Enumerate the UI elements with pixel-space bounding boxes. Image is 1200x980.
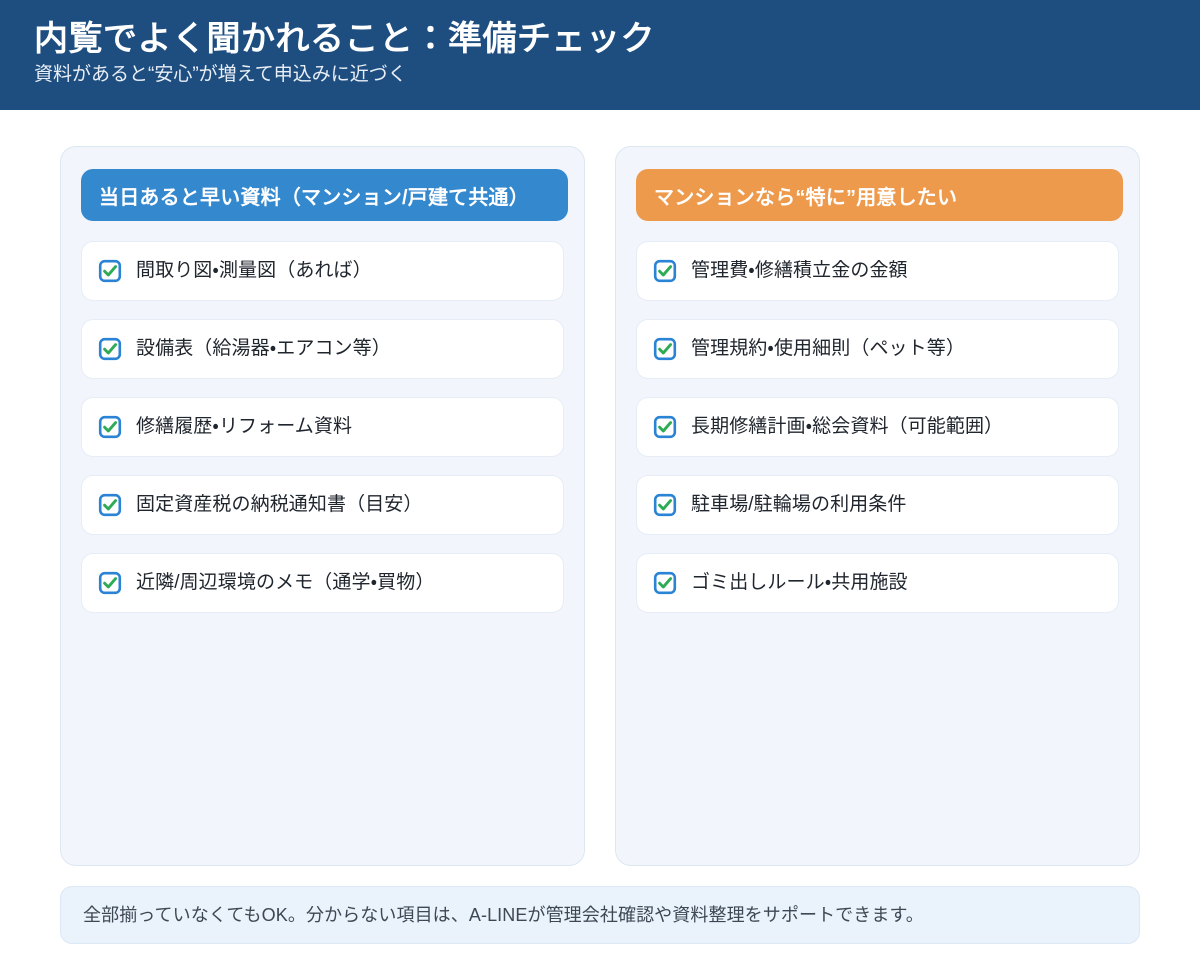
list-item[interactable]: 長期修繕計画・総会資料（可能範囲） bbox=[636, 397, 1119, 457]
list-item[interactable]: 固定資産税の納税通知書（目安） bbox=[81, 475, 564, 535]
card-heading-common: 当日あると早い資料（マンション/戸建て共通） bbox=[81, 169, 568, 221]
card-heading-mansion: マンションなら“特に”用意したい bbox=[636, 169, 1123, 221]
list-item-label: 管理規約・使用細則（ペット等） bbox=[691, 337, 965, 361]
checkbox-checked-icon[interactable] bbox=[653, 415, 677, 439]
checkbox-checked-icon[interactable] bbox=[653, 259, 677, 283]
list-item-label: 設備表（給湯器・エアコン等） bbox=[136, 337, 391, 361]
list-item-label: 近隣/周辺環境のメモ（通学・買物） bbox=[136, 571, 434, 595]
list-item-label: 修繕履歴・リフォーム資料 bbox=[136, 415, 352, 439]
checkbox-checked-icon[interactable] bbox=[98, 259, 122, 283]
footer-note-text: 全部揃っていなくてもOK。分からない項目は、A-LINEが管理会社確認や資料整理… bbox=[83, 903, 924, 927]
list-item[interactable]: 駐車場/駐輪場の利用条件 bbox=[636, 475, 1119, 535]
footer-note: 全部揃っていなくてもOK。分からない項目は、A-LINEが管理会社確認や資料整理… bbox=[60, 886, 1140, 944]
page-header: 内覧でよく聞かれること：準備チェック 資料があると“安心”が増えて申込みに近づく bbox=[0, 0, 1200, 110]
checkbox-checked-icon[interactable] bbox=[98, 493, 122, 517]
list-item[interactable]: 修繕履歴・リフォーム資料 bbox=[81, 397, 564, 457]
list-item[interactable]: 近隣/周辺環境のメモ（通学・買物） bbox=[81, 553, 564, 613]
list-item-label: 間取り図・測量図（あれば） bbox=[136, 259, 372, 283]
card-heading-label: 当日あると早い資料（マンション/戸建て共通） bbox=[99, 181, 529, 210]
checklist-card-common: 当日あると早い資料（マンション/戸建て共通） 間取り図・測量図（あれば） 設備表… bbox=[60, 146, 585, 866]
checkbox-checked-icon[interactable] bbox=[98, 571, 122, 595]
checkbox-checked-icon[interactable] bbox=[653, 493, 677, 517]
item-list-common: 間取り図・測量図（あれば） 設備表（給湯器・エアコン等） 修繕履歴・リフォーム資… bbox=[81, 241, 564, 613]
card-heading-label: マンションなら“特に”用意したい bbox=[654, 181, 957, 210]
checkbox-checked-icon[interactable] bbox=[653, 337, 677, 361]
checklist-card-mansion: マンションなら“特に”用意したい 管理費・修繕積立金の金額 管理規約・使用細則（… bbox=[615, 146, 1140, 866]
slide-root: 内覧でよく聞かれること：準備チェック 資料があると“安心”が増えて申込みに近づく… bbox=[0, 0, 1200, 980]
checkbox-checked-icon[interactable] bbox=[98, 337, 122, 361]
list-item-label: 駐車場/駐輪場の利用条件 bbox=[691, 493, 906, 517]
list-item[interactable]: 管理費・修繕積立金の金額 bbox=[636, 241, 1119, 301]
item-list-mansion: 管理費・修繕積立金の金額 管理規約・使用細則（ペット等） 長期修繕計画・総会資料… bbox=[636, 241, 1119, 613]
list-item-label: ゴミ出しルール・共用施設 bbox=[691, 571, 908, 595]
list-item[interactable]: 管理規約・使用細則（ペット等） bbox=[636, 319, 1119, 379]
checklist-columns: 当日あると早い資料（マンション/戸建て共通） 間取り図・測量図（あれば） 設備表… bbox=[60, 146, 1140, 866]
page-title: 内覧でよく聞かれること：準備チェック bbox=[34, 18, 1200, 60]
checkbox-checked-icon[interactable] bbox=[653, 571, 677, 595]
list-item[interactable]: 間取り図・測量図（あれば） bbox=[81, 241, 564, 301]
checkbox-checked-icon[interactable] bbox=[98, 415, 122, 439]
list-item[interactable]: ゴミ出しルール・共用施設 bbox=[636, 553, 1119, 613]
list-item-label: 長期修繕計画・総会資料（可能範囲） bbox=[691, 415, 1003, 439]
list-item[interactable]: 設備表（給湯器・エアコン等） bbox=[81, 319, 564, 379]
list-item-label: 固定資産税の納税通知書（目安） bbox=[136, 493, 423, 517]
page-subtitle: 資料があると“安心”が増えて申込みに近づく bbox=[34, 62, 1200, 88]
list-item-label: 管理費・修繕積立金の金額 bbox=[691, 259, 908, 283]
